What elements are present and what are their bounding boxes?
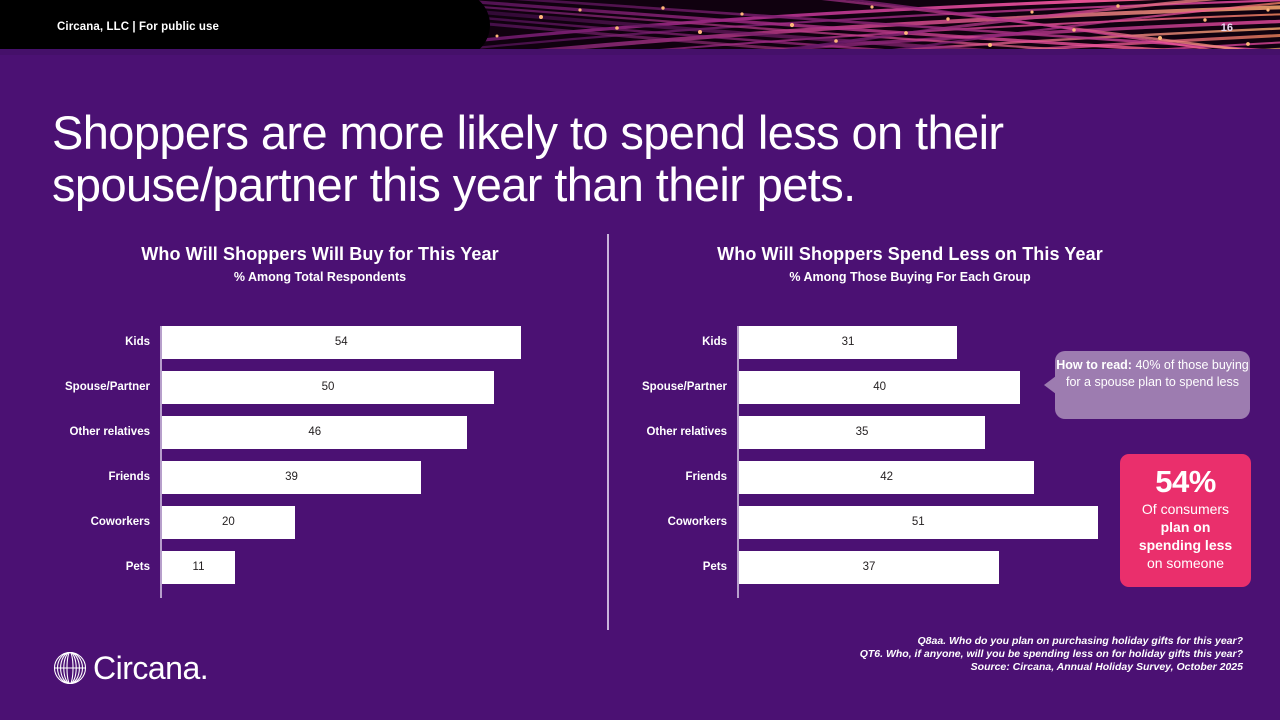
key-stat-box: 54% Of consumers plan on spending less o… xyxy=(1120,454,1251,587)
category-label: Coworkers xyxy=(91,506,150,539)
category-label: Pets xyxy=(126,551,150,584)
bar-value-label: 37 xyxy=(739,551,999,584)
category-label: Friends xyxy=(108,461,150,494)
chart-bar: 51 xyxy=(739,506,1098,539)
banner-bottom-strip xyxy=(0,49,1280,55)
callout-tail-icon xyxy=(1044,376,1056,394)
chart-bar: 11 xyxy=(162,551,235,584)
callout-lead: How to read: xyxy=(1056,358,1132,372)
bar-value-label: 42 xyxy=(739,461,1034,494)
key-stat-line-4: on someone xyxy=(1120,554,1251,572)
right-chart-title: Who Will Shoppers Spend Less on This Yea… xyxy=(640,244,1180,265)
header-banner: Circana, LLC | For public use 16 xyxy=(0,0,1280,55)
left-chart-title: Who Will Shoppers Will Buy for This Year xyxy=(62,244,578,265)
slide: Circana, LLC | For public use 16 Shopper… xyxy=(0,0,1280,720)
confidentiality-label: Circana, LLC | For public use xyxy=(57,21,219,33)
chart-bar: 40 xyxy=(739,371,1020,404)
footnotes: Q8aa. Who do you plan on purchasing holi… xyxy=(860,635,1243,674)
category-label: Other relatives xyxy=(646,416,727,449)
page-number: 16 xyxy=(1221,22,1233,34)
how-to-read-callout: How to read: 40% of those buying for a s… xyxy=(1055,351,1250,419)
bar-value-label: 46 xyxy=(162,416,467,449)
chart-bar: 42 xyxy=(739,461,1034,494)
chart-bar: 54 xyxy=(162,326,521,359)
chart-bar: 39 xyxy=(162,461,421,494)
category-label: Spouse/Partner xyxy=(65,371,150,404)
chart-bar: 50 xyxy=(162,371,494,404)
footnote-question-1: Q8aa. Who do you plan on purchasing holi… xyxy=(860,635,1243,648)
circana-wordmark: Circana. xyxy=(93,651,208,685)
category-label: Pets xyxy=(703,551,727,584)
bar-value-label: 54 xyxy=(162,326,521,359)
chart-bar: 46 xyxy=(162,416,467,449)
key-stat-number: 54% xyxy=(1120,464,1251,500)
bar-value-label: 51 xyxy=(739,506,1098,539)
bar-value-label: 50 xyxy=(162,371,494,404)
category-label: Kids xyxy=(125,326,150,359)
key-stat-line-2: plan on xyxy=(1120,518,1251,536)
footnote-source: Source: Circana, Annual Holiday Survey, … xyxy=(860,661,1243,674)
right-chart-subtitle: % Among Those Buying For Each Group xyxy=(640,270,1180,284)
chart-bar: 20 xyxy=(162,506,295,539)
category-label: Kids xyxy=(702,326,727,359)
bar-value-label: 40 xyxy=(739,371,1020,404)
bar-value-label: 39 xyxy=(162,461,421,494)
bar-value-label: 20 xyxy=(162,506,295,539)
key-stat-line-1: Of consumers xyxy=(1120,500,1251,518)
bar-value-label: 35 xyxy=(739,416,985,449)
slide-title: Shoppers are more likely to spend less o… xyxy=(52,107,1232,211)
footnote-question-2: QT6. Who, if anyone, will you be spendin… xyxy=(860,648,1243,661)
bar-value-label: 31 xyxy=(739,326,957,359)
category-label: Coworkers xyxy=(668,506,727,539)
bar-value-label: 11 xyxy=(162,551,235,584)
category-label: Spouse/Partner xyxy=(642,371,727,404)
left-chart-subtitle: % Among Total Respondents xyxy=(62,270,578,284)
key-stat-line-3: spending less xyxy=(1120,536,1251,554)
category-label: Friends xyxy=(685,461,727,494)
circana-globe-icon xyxy=(48,646,92,690)
chart-bar: 37 xyxy=(739,551,999,584)
category-label: Other relatives xyxy=(69,416,150,449)
chart-bar: 35 xyxy=(739,416,985,449)
panel-divider xyxy=(607,234,609,630)
chart-bar: 31 xyxy=(739,326,957,359)
circana-logo: Circana. xyxy=(48,646,208,690)
